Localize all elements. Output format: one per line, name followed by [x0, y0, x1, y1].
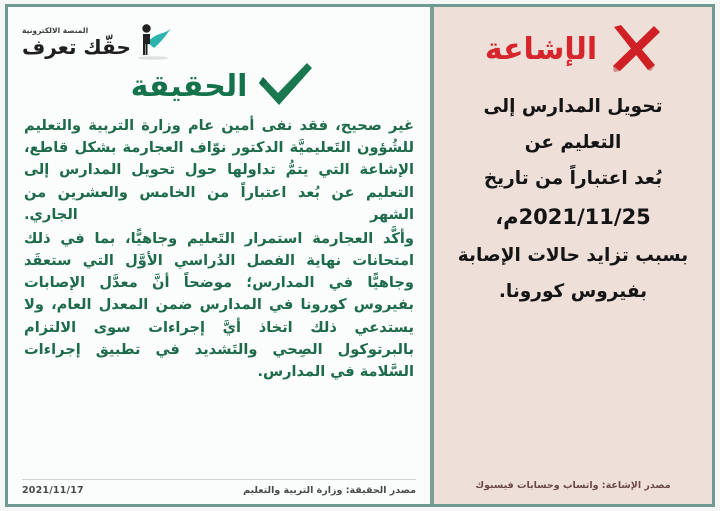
rumor-title: الإشاعة — [485, 32, 597, 67]
logo-wordmark: المنصة الالكترونية حقّك تعرف — [22, 27, 131, 57]
rumor-header: الإشاعة — [450, 23, 696, 75]
logo-title: حقّك تعرف — [22, 37, 131, 57]
truth-paragraph: غير صحيح، فقد نفى أمين عام وزارة التربية… — [24, 115, 414, 226]
rumor-line: تحويل المدارس إلى التعليم عن — [450, 89, 696, 161]
truth-date: 2021/11/17 — [22, 485, 84, 496]
truth-paragraph: وأكَّد العجارمة استمرار التَعليم وجاهيًّ… — [24, 228, 414, 383]
truth-panel: المنصة الالكترونية حقّك تعرف الحقيقة غير… — [8, 7, 430, 504]
person-check-logo-icon — [134, 22, 180, 62]
truth-title: الحقيقة — [131, 69, 248, 104]
rumor-date-line: 2021/11/25م، — [450, 197, 696, 238]
rumor-line: بسبب تزايد حالات الإصابة — [450, 238, 696, 274]
logo-row: المنصة الالكترونية حقّك تعرف — [22, 15, 416, 69]
rumor-footer: مصدر الإشاعة: واتساب وحسابات فيسبوك — [450, 473, 696, 500]
truth-source-label: مصدر الحقيقة: وزارة التربية والتعليم — [243, 485, 416, 496]
rumor-spacer — [450, 310, 696, 473]
rumor-source-label: مصدر الإشاعة: واتساب وحسابات فيسبوك — [475, 480, 670, 491]
truth-footer: 2021/11/17 مصدر الحقيقة: وزارة التربية و… — [22, 479, 416, 500]
infographic-frame: الإشاعة تحويل المدارس إلى التعليم عن بُع… — [5, 4, 715, 507]
rumor-line: بُعد اعتباراً من تاريخ — [450, 161, 696, 197]
green-check-icon — [257, 63, 313, 109]
red-x-icon — [607, 23, 661, 75]
truth-spacer — [22, 385, 416, 479]
truth-body: غير صحيح، فقد نفى أمين عام وزارة التربية… — [22, 115, 416, 385]
rumor-body: تحويل المدارس إلى التعليم عن بُعد اعتبار… — [450, 89, 696, 310]
rumor-line: بفيروس كورونا. — [450, 274, 696, 310]
truth-header: الحقيقة — [22, 63, 416, 109]
rumor-panel: الإشاعة تحويل المدارس إلى التعليم عن بُع… — [434, 7, 712, 504]
brand-logo: المنصة الالكترونية حقّك تعرف — [22, 22, 180, 62]
infographic-canvas: الإشاعة تحويل المدارس إلى التعليم عن بُع… — [0, 0, 720, 511]
logo-subtitle: المنصة الالكترونية — [22, 27, 88, 35]
